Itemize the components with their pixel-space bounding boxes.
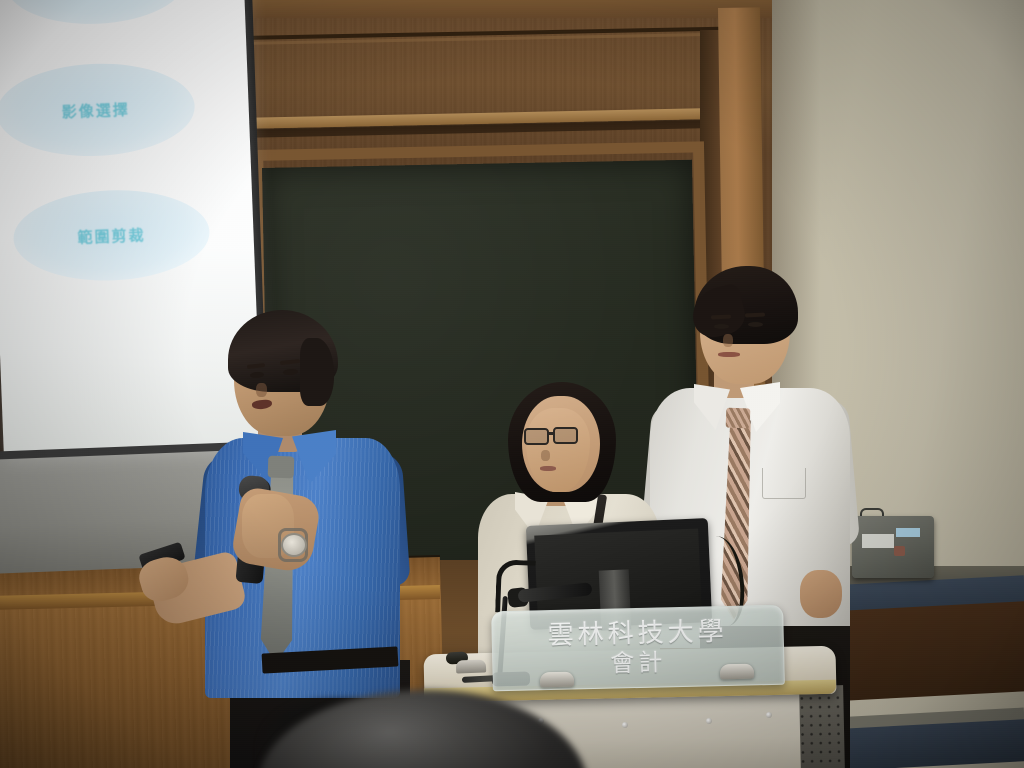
eyeglasses-lens-left: [524, 428, 549, 445]
right-man-mouth: [718, 352, 740, 357]
podium-nameplate-line-2: 會計: [610, 648, 667, 677]
wood-top-band: [232, 0, 772, 18]
equipment-case-latch: [894, 546, 905, 556]
right-man-nose: [723, 334, 733, 347]
right-man-hand: [800, 570, 842, 618]
right-man-eye-right: [748, 322, 763, 327]
slide-oval-middle: 影像選擇: [0, 60, 196, 160]
podium-screw: [706, 718, 712, 724]
right-man-tie-knot: [726, 408, 751, 429]
podium-desk-clip: [456, 659, 486, 673]
slide-oval-middle-label: 影像選擇: [61, 98, 130, 122]
presentation-photo-scene: 影像選擇 範圍剪裁: [0, 0, 1024, 768]
slide-oval-bottom-label: 範圍剪裁: [77, 224, 146, 248]
right-man-eye-left: [714, 324, 729, 329]
slide-oval-top: [4, 0, 187, 27]
eyeglasses-lens-right: [553, 427, 578, 444]
podium-nameplate-line-1: 雲林科技大學: [547, 617, 728, 651]
left-speaker-nose: [256, 383, 267, 397]
equipment-case-sticker: [896, 528, 920, 537]
podium-screw: [622, 722, 628, 728]
slide-oval-bottom: 範圍剪裁: [12, 187, 211, 284]
podium-screw: [766, 712, 772, 718]
left-speaker-tie-knot: [268, 456, 295, 479]
projection-screen: 影像選擇 範圍剪裁: [0, 0, 262, 458]
left-speaker-hair-side: [300, 338, 334, 406]
right-man-shirt-pocket: [762, 468, 806, 499]
center-woman-nose: [541, 450, 550, 461]
nameplate-clip-right: [720, 664, 754, 680]
center-woman-mouth: [540, 466, 556, 471]
wristwatch: [281, 533, 307, 557]
nameplate-clip-left: [540, 672, 574, 688]
equipment-case-label: [862, 534, 894, 548]
eyeglasses-bridge: [548, 432, 555, 435]
